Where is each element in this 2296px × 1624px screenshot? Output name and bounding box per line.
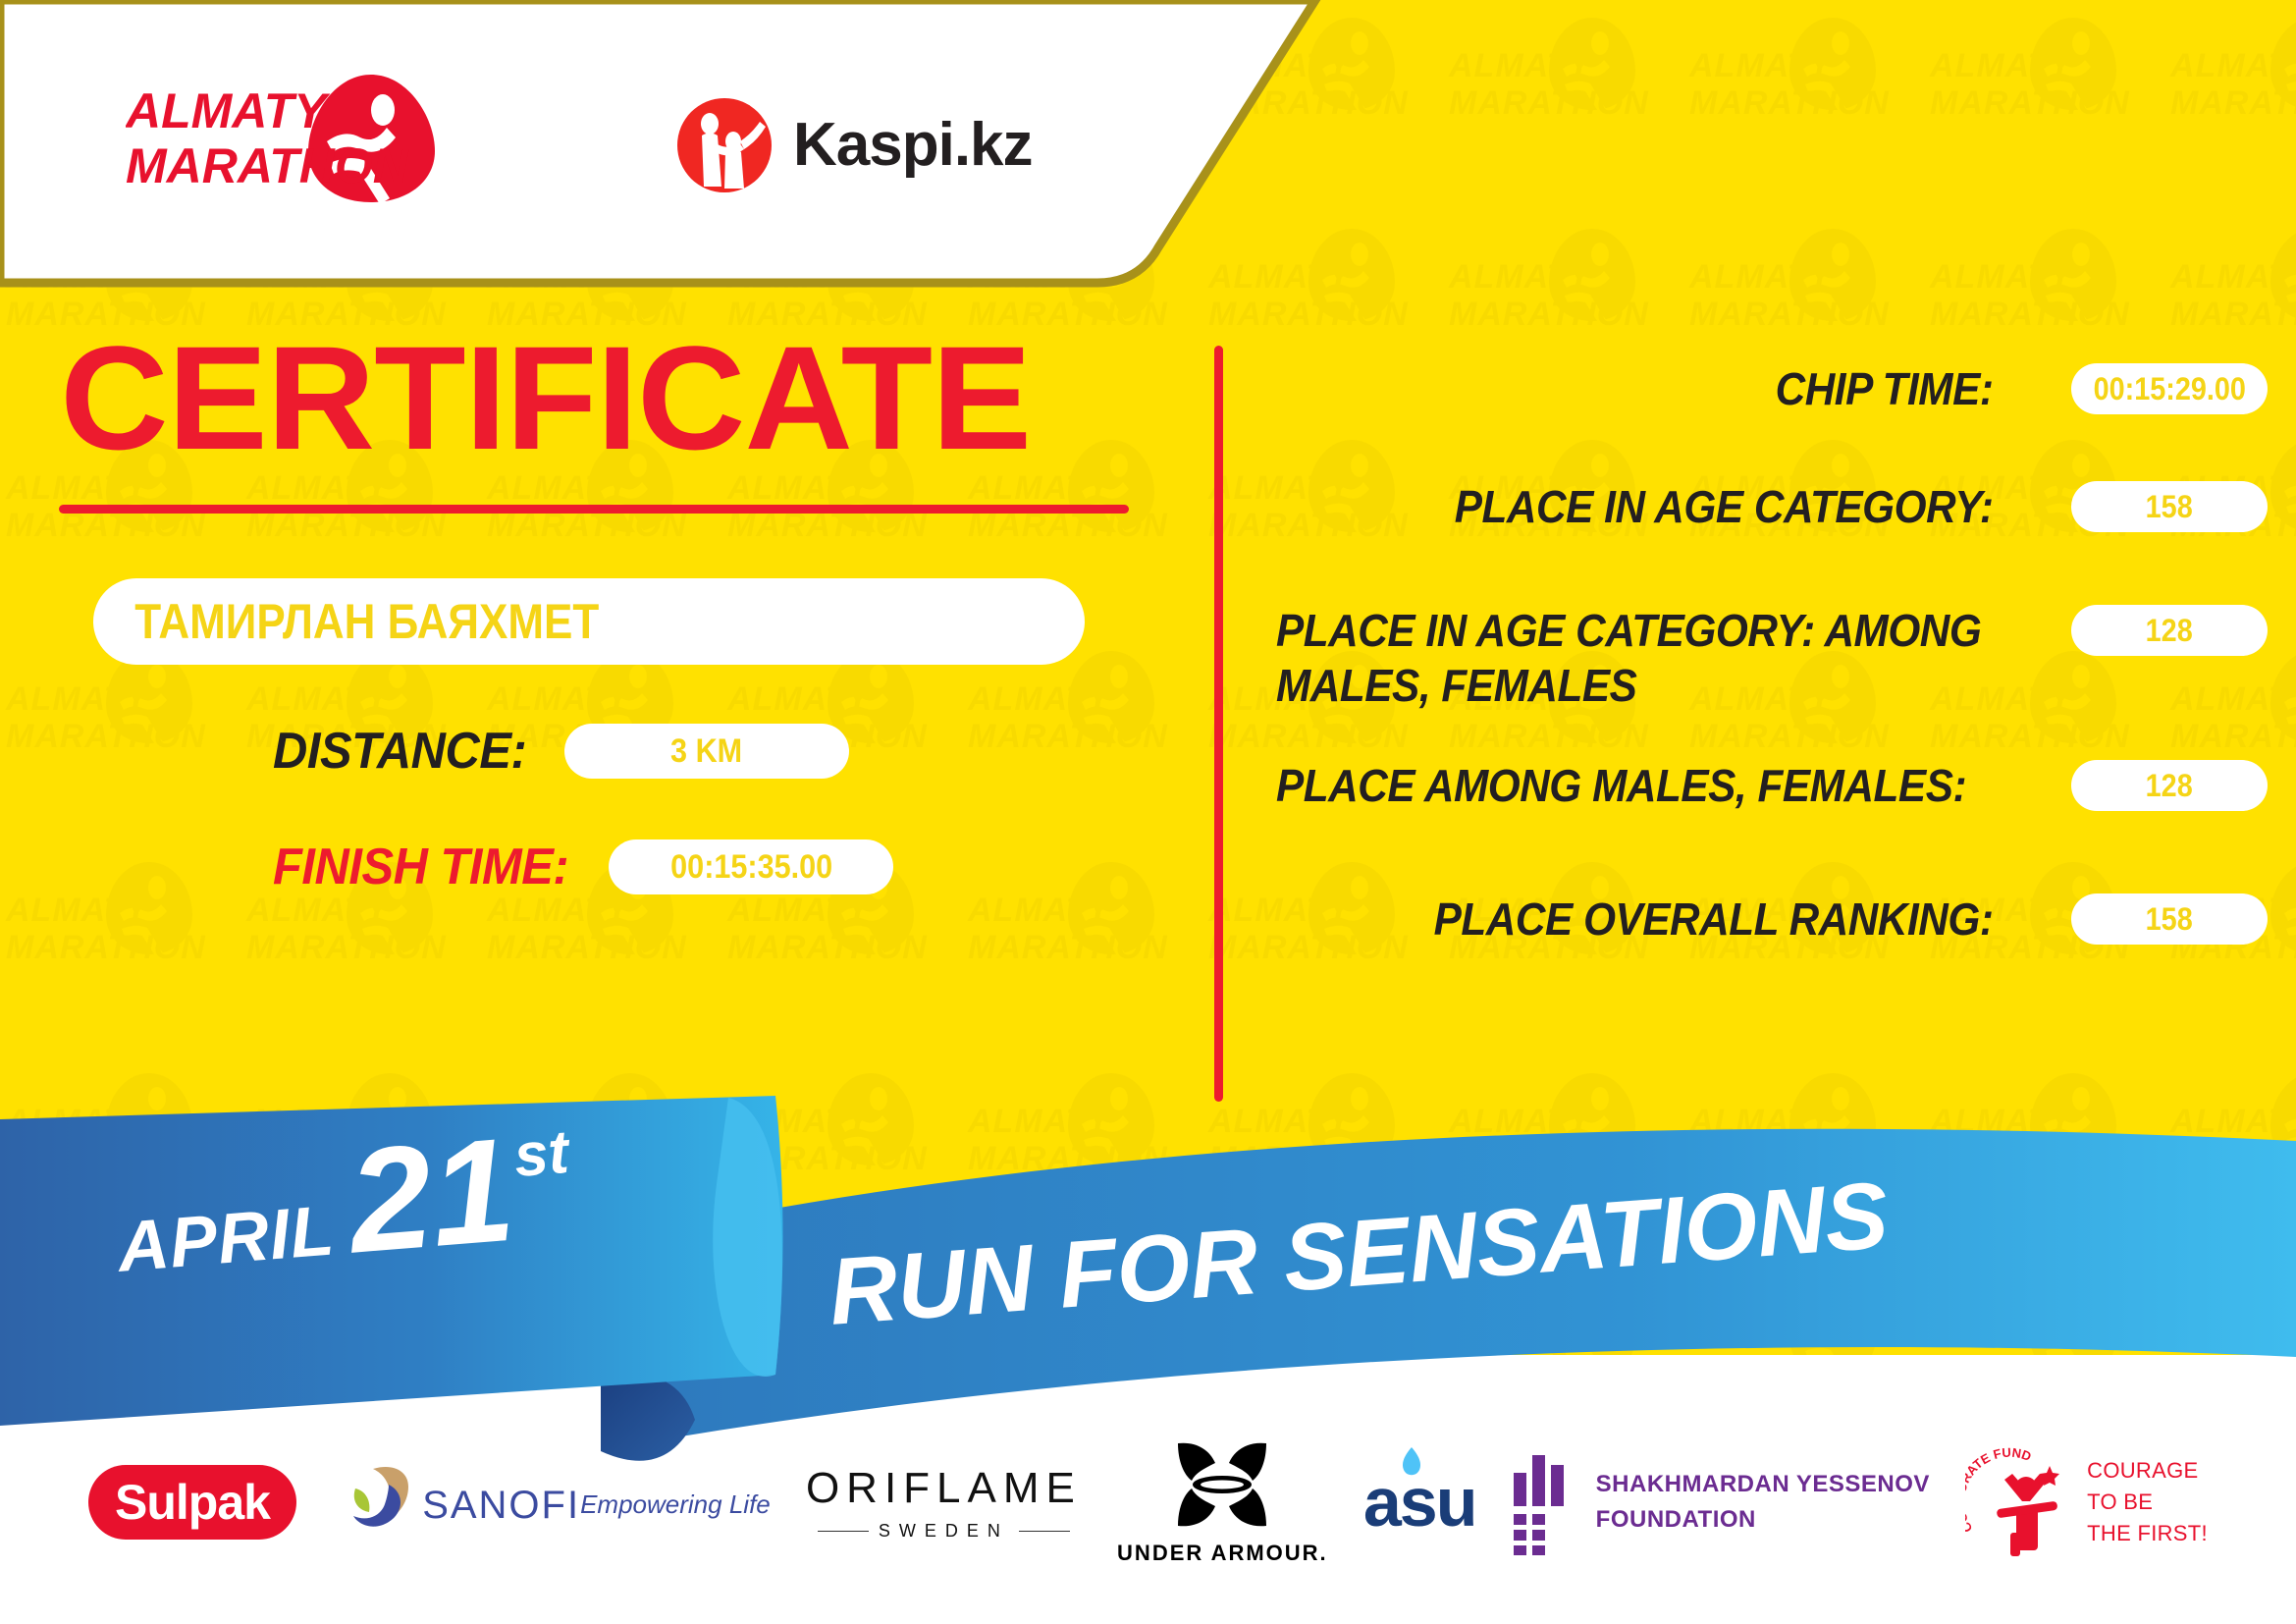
place-overall-ranking-row: PLACE OVERALL RANKING: 158 [1276,892,2268,970]
participant-name-value: ТАМИРЛАН БАЯХМЕТ [93,593,599,650]
place-age-category-value-field: 158 [2071,481,2268,532]
courage-mark-icon: CORPORATE FUND [1965,1444,2073,1560]
ribbon-day: 21 [344,1115,518,1275]
sponsor-sanofi: SANOFI Empowering Life [332,1429,771,1576]
sponsor-strip: Sulpak SANOFI Empowering Life ORIFLAME S… [0,1404,2296,1600]
participant-name-field: ТАМИРЛАН БАЯХМЕТ [93,578,1085,665]
oriflame-tagline-wrap: SWEDEN [806,1521,1082,1542]
place-overall-ranking-value: 158 [2146,901,2193,938]
courage-line3: THE FIRST! [2087,1518,2208,1549]
distance-row: DISTANCE: 3 KM [273,722,1158,781]
ribbon-month: APRIL [115,1190,338,1287]
place-among-males-females-value-field: 128 [2071,760,2268,811]
place-age-category-among-row: PLACE IN AGE CATEGORY: AMONG MALES, FEMA… [1276,603,2268,713]
place-age-category-row: PLACE IN AGE CATEGORY: 158 [1276,479,2268,558]
yessenov-mark-icon [1512,1449,1576,1555]
sponsor-asu: asu [1363,1429,1476,1576]
place-among-males-females-label: PLACE AMONG MALES, FEMALES: [1276,758,2007,813]
yessenov-tagline: FOUNDATION [1596,1502,1930,1538]
sponsor-under-armour: UNDER ARMOUR. [1117,1429,1328,1576]
sulpak-logo: Sulpak [88,1465,296,1540]
almaty-logo-line1: ALMATY [126,83,331,138]
under-armour-mark-icon [1158,1439,1286,1530]
sulpak-label: Sulpak [115,1474,270,1531]
oriflame-rule-right [1019,1531,1070,1532]
oriflame-tagline: SWEDEN [879,1521,1009,1542]
distance-value-field: 3 KM [564,724,849,779]
column-divider [1214,346,1223,1102]
place-overall-ranking-label: PLACE OVERALL RANKING: [1276,892,2007,947]
place-age-category-among-value: 128 [2146,613,2193,649]
header-logos: ALMATY MARATHON Kaspi.kz [0,0,1178,275]
courage-line2: TO BE [2087,1487,2208,1518]
place-age-category-value: 158 [2146,489,2193,525]
oriflame-label: ORIFLAME [806,1464,1082,1513]
page-title: CERTIFICATE [0,324,1182,471]
chip-time-value-field: 00:15:29.00 [2071,363,2268,414]
under-armour-label: UNDER ARMOUR. [1117,1541,1328,1566]
sponsor-courage-to-be-first: CORPORATE FUND COURAGE TO BE THE FIRST! [1965,1429,2208,1576]
distance-value: 3 KM [670,732,742,771]
place-age-category-among-label: PLACE IN AGE CATEGORY: AMONG MALES, FEMA… [1276,603,2007,713]
finish-time-row: FINISH TIME: 00:15:35.00 [273,838,1158,896]
finish-time-value-field: 00:15:35.00 [609,839,893,894]
place-among-males-females-row: PLACE AMONG MALES, FEMALES: 128 [1276,758,2268,837]
courage-line1: COURAGE [2087,1455,2208,1487]
sponsor-sulpak: Sulpak [88,1429,296,1576]
yessenov-label: SHAKHMARDAN YESSENOV [1596,1467,1930,1502]
place-among-males-females-value: 128 [2146,768,2193,804]
right-column: CHIP TIME: 00:15:29.00 PLACE IN AGE CATE… [1276,361,2268,998]
asu-droplet-icon [1399,1445,1424,1479]
kaspi-mark-icon [677,98,772,192]
sanofi-tagline: Empowering Life [580,1489,771,1520]
place-age-category-label: PLACE IN AGE CATEGORY: [1276,479,2007,534]
finish-time-value: 00:15:35.00 [670,848,832,887]
ribbon-day-suffix: st [511,1117,571,1191]
kaspi-logo: Kaspi.kz [677,96,1090,194]
distance-label: DISTANCE: [273,722,526,781]
place-age-category-among-value-field: 128 [2071,605,2268,656]
sponsor-oriflame: ORIFLAME SWEDEN [806,1429,1082,1576]
sanofi-label: SANOFI [422,1484,580,1528]
certificate-page: ALMATY MARATHON ALMATY MARATHON [0,0,2296,1624]
almaty-logo-line2: MARATHON [126,138,409,193]
chip-time-label: CHIP TIME: [1276,361,2007,416]
title-underline-rule [59,505,1129,514]
kaspi-wordmark: Kaspi.kz [793,115,1033,176]
left-column: CERTIFICATE ТАМИРЛАН БАЯХМЕТ DISTANCE: 3… [0,324,1158,896]
finish-time-label: FINISH TIME: [273,838,568,896]
sponsor-yessenov-foundation: SHAKHMARDAN YESSENOV FOUNDATION [1512,1429,1930,1576]
chip-time-row: CHIP TIME: 00:15:29.00 [1276,361,2268,440]
almaty-marathon-logo: ALMATY MARATHON [126,67,450,204]
oriflame-rule-left [818,1531,869,1532]
sanofi-mark-icon [332,1465,422,1536]
place-overall-ranking-value-field: 158 [2071,893,2268,945]
chip-time-value: 00:15:29.00 [2093,371,2245,407]
